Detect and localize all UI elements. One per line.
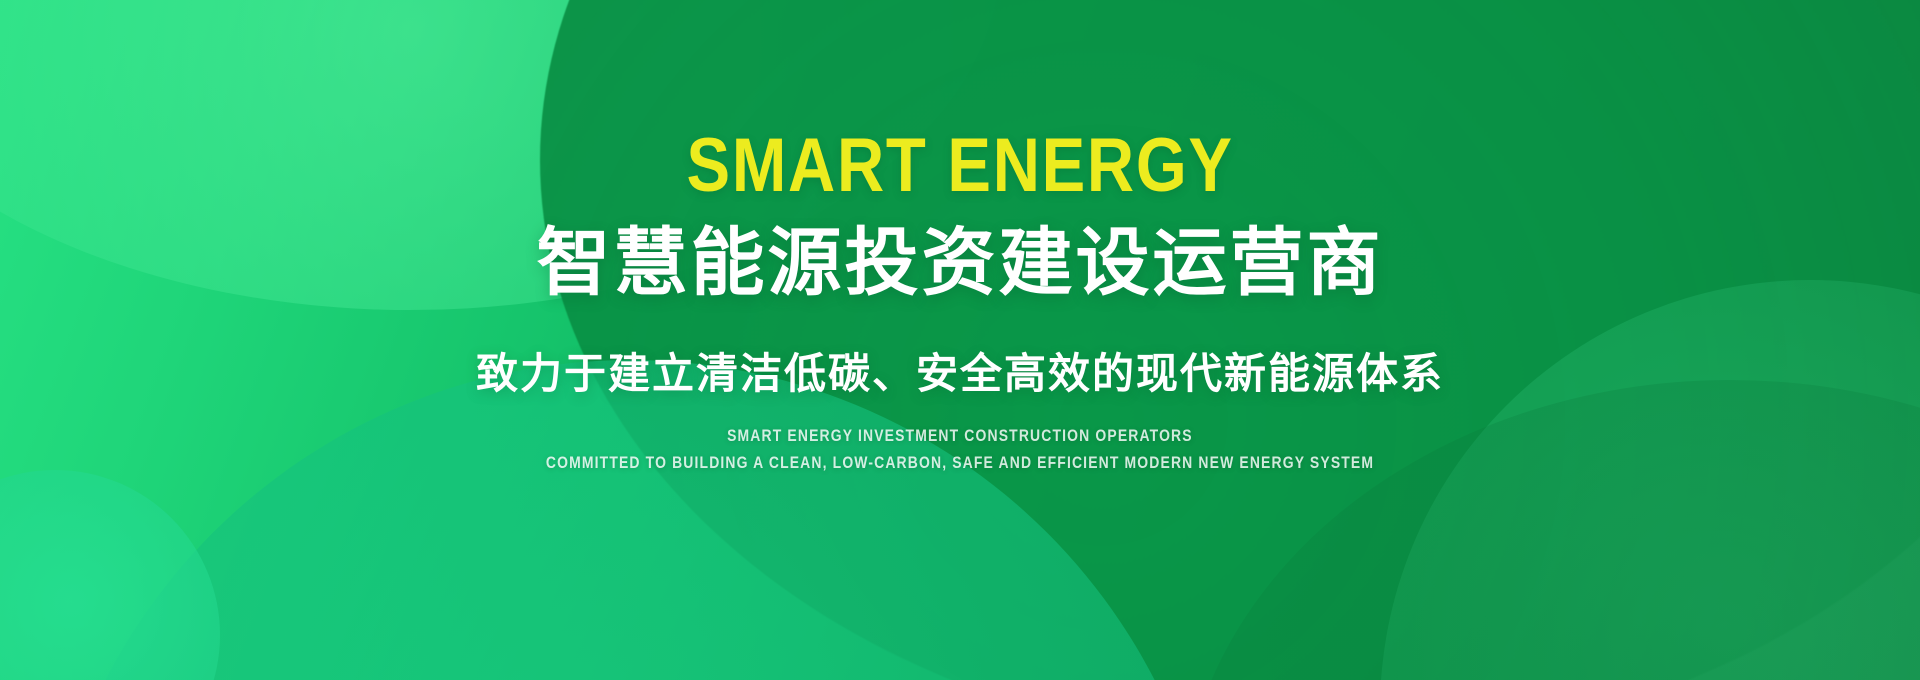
banner-subtitle-chinese: 致力于建立清洁低碳、安全高效的现代新能源体系 [476,349,1444,399]
banner-caption-line-1: SMART ENERGY INVESTMENT CONSTRUCTION OPE… [727,425,1193,446]
banner-title-english: SMART ENERGY [686,128,1233,204]
banner-content: SMART ENERGY 智慧能源投资建设运营商 致力于建立清洁低碳、安全高效的… [0,0,1920,680]
banner-title-chinese: 智慧能源投资建设运营商 [537,222,1384,305]
banner-caption-block: SMART ENERGY INVESTMENT CONSTRUCTION OPE… [455,425,1465,473]
banner-caption-line-2: COMMITTED TO BUILDING A CLEAN, LOW-CARBO… [546,452,1374,473]
smart-energy-banner: SMART ENERGY 智慧能源投资建设运营商 致力于建立清洁低碳、安全高效的… [0,0,1920,680]
